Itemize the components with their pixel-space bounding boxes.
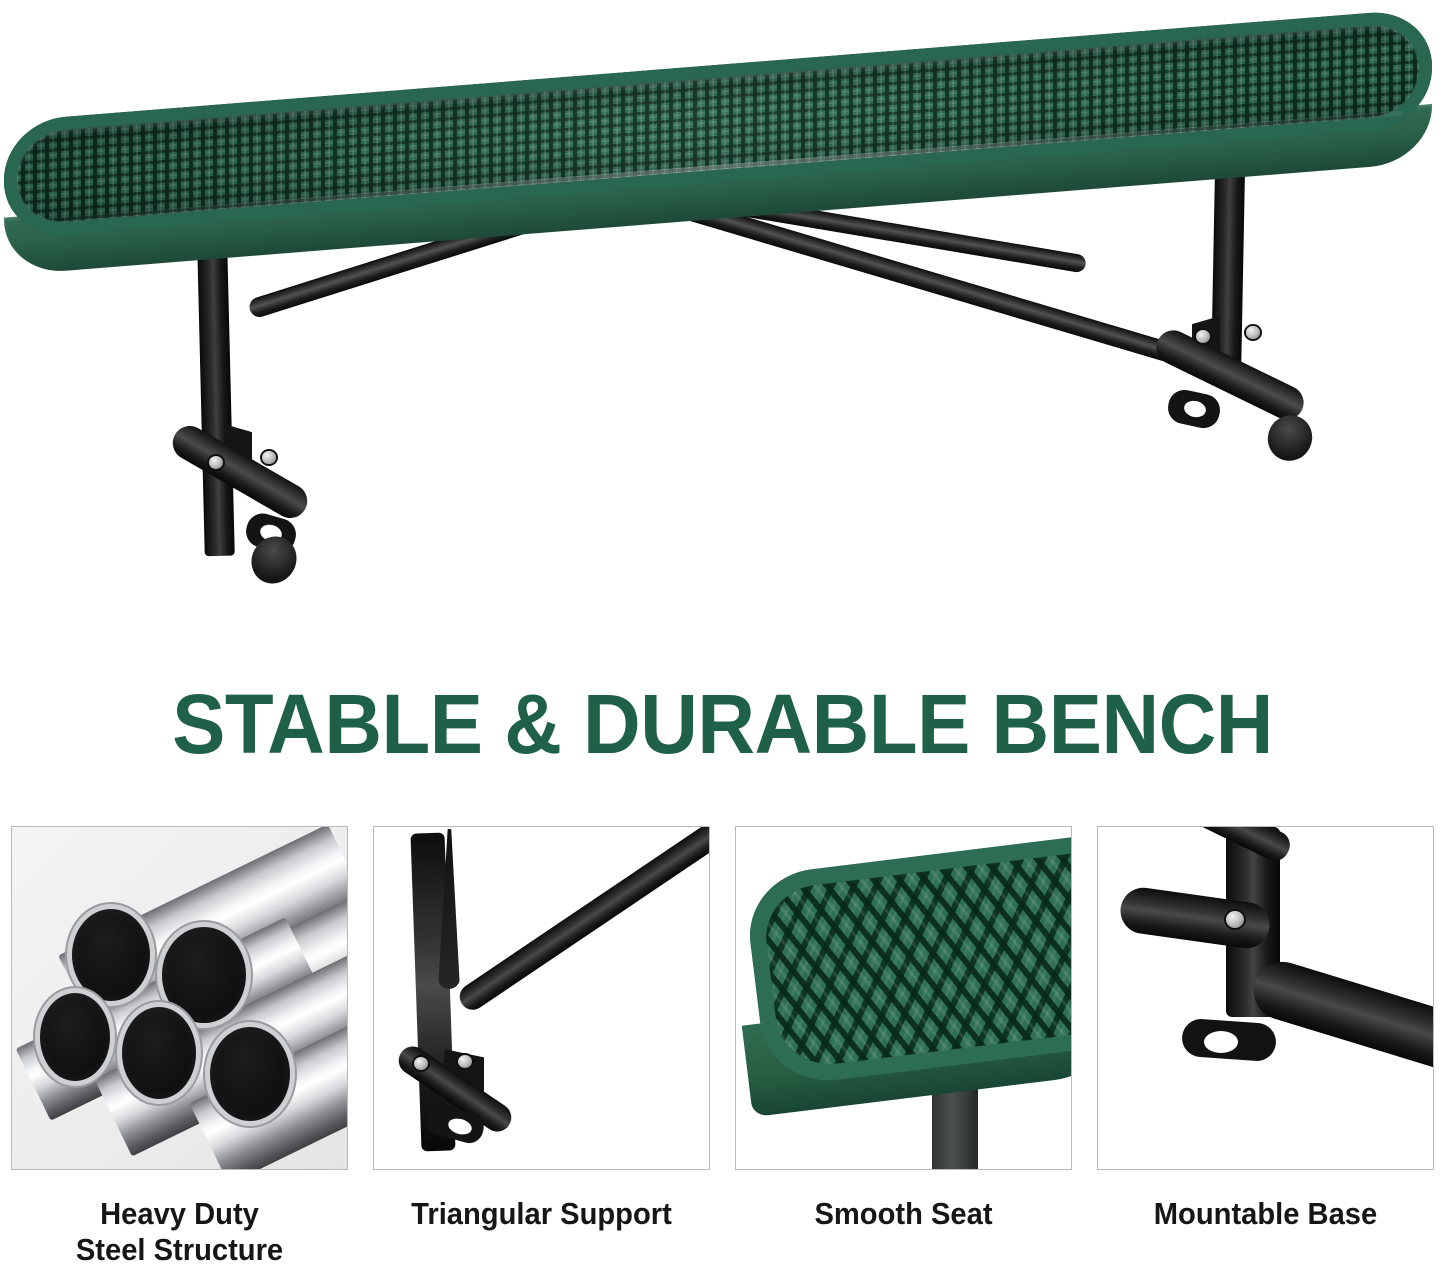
seat-corner <box>742 834 1072 1088</box>
caption-smooth-seat: Smooth Seat <box>745 1196 1062 1232</box>
steel-pipe-end-5 <box>210 1027 290 1121</box>
feature-image-mountable-base <box>1097 826 1434 1170</box>
right-foot-end-cap <box>1260 408 1320 469</box>
base-bolt <box>1226 911 1244 928</box>
hero-product-image <box>0 0 1445 660</box>
feature-caption-row: Heavy Duty Steel Structure Triangular Su… <box>0 1196 1445 1266</box>
caption-line-1: Mountable Base <box>1154 1196 1377 1231</box>
bench-seat <box>0 0 1445 260</box>
right-bolt-a <box>1196 330 1210 343</box>
brace-bolt-a <box>414 1057 428 1070</box>
base-mounting-hole <box>1204 1031 1238 1053</box>
caption-line-1: Triangular Support <box>411 1196 672 1231</box>
feature-image-heavy-duty-steel-structure <box>11 826 348 1170</box>
caption-line-1: Heavy Duty <box>100 1196 259 1231</box>
left-bolt-a <box>209 456 223 469</box>
steel-pipe-end-2 <box>162 927 246 1023</box>
caption-triangular-support: Triangular Support <box>383 1196 700 1232</box>
feature-image-triangular-support <box>373 826 710 1170</box>
brace-bolt-b <box>458 1055 472 1068</box>
diagonal-brace <box>455 826 710 1015</box>
headline-title: STABLE & DURABLE BENCH <box>36 676 1409 773</box>
product-feature-page: STABLE & DURABLE BENCH <box>0 0 1445 1266</box>
steel-pipe-end-1 <box>72 909 150 1001</box>
caption-line-1: Smooth Seat <box>814 1196 992 1231</box>
left-bolt-b <box>262 451 276 464</box>
seat-diamond-mesh <box>760 852 1072 1071</box>
steel-pipe-end-3 <box>40 993 110 1081</box>
caption-line-2: Steel Structure <box>21 1232 338 1268</box>
right-bolt-b <box>1246 326 1260 339</box>
base-horizontal-tube-right <box>1247 955 1434 1078</box>
caption-heavy-duty-steel-structure: Heavy Duty Steel Structure <box>21 1196 338 1268</box>
steel-pipe-end-4 <box>122 1007 196 1099</box>
caption-mountable-base: Mountable Base <box>1107 1196 1424 1232</box>
feature-thumbnail-row <box>0 826 1445 1174</box>
feature-image-smooth-seat <box>735 826 1072 1170</box>
